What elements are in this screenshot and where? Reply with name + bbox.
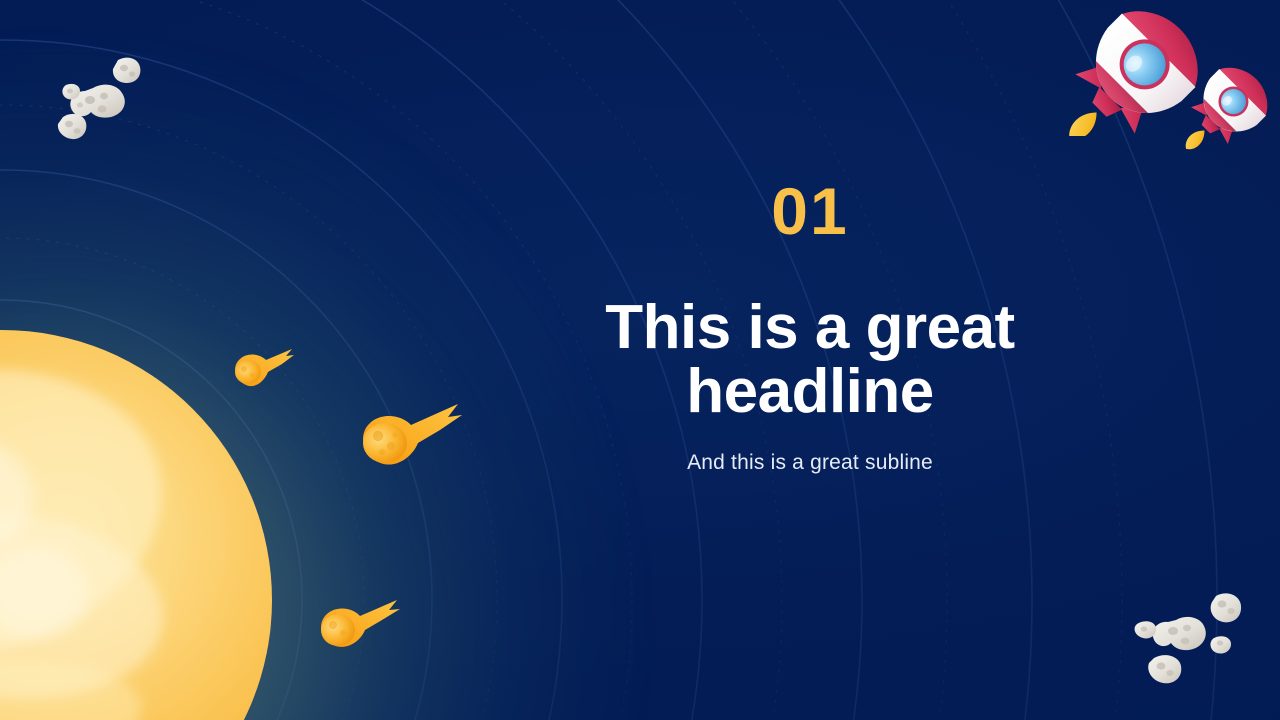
slide-number: 01 [560,178,1060,244]
page-title: This is a great headline [560,296,1060,425]
slide-canvas: 01 This is a great headline And this is … [0,0,1280,720]
page-subtitle: And this is a great subline [560,451,1060,475]
slide-content: 01 This is a great headline And this is … [560,178,1060,475]
